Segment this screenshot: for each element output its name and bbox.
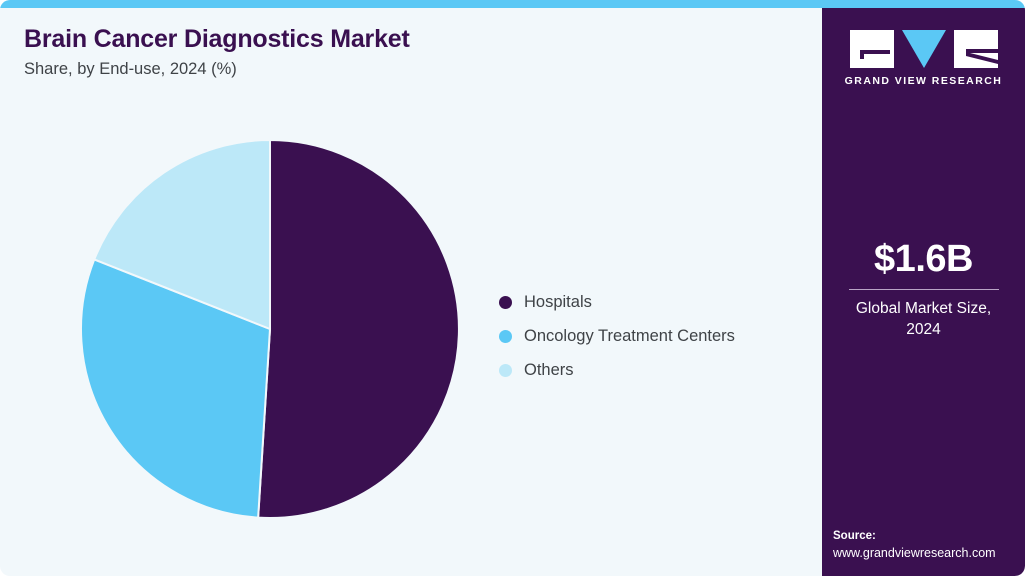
legend-item-label: Oncology Treatment Centers (524, 327, 735, 346)
pie-slice-group (81, 140, 459, 518)
source-block: Source: www.grandviewresearch.com (833, 528, 1025, 562)
brand-wordmark: GRAND VIEW RESEARCH (845, 75, 1003, 87)
chart-pane: Brain Cancer Diagnostics Market Share, b… (0, 8, 822, 576)
legend-item-label: Others (524, 361, 574, 380)
infographic-canvas: Brain Cancer Diagnostics Market Share, b… (0, 0, 1025, 576)
pie-chart-svg (80, 139, 460, 519)
top-accent-bar (0, 0, 1025, 8)
pie-slice[interactable] (258, 140, 459, 518)
market-size-value: $1.6B (822, 240, 1025, 280)
legend-swatch-icon (499, 296, 512, 309)
legend-item-hospitals[interactable]: Hospitals (499, 285, 735, 319)
stat-divider (849, 289, 999, 290)
page-title: Brain Cancer Diagnostics Market (24, 26, 784, 54)
side-panel: GRAND VIEW RESEARCH $1.6B Global Market … (822, 8, 1025, 576)
legend-item-label: Hospitals (524, 293, 592, 312)
brand-logo: GRAND VIEW RESEARCH (822, 30, 1025, 87)
pie-chart (80, 139, 460, 519)
source-label: Source: (833, 528, 1025, 545)
legend-swatch-icon (499, 364, 512, 377)
legend-item-others[interactable]: Others (499, 353, 735, 387)
market-size-caption: Global Market Size, 2024 (822, 299, 1025, 341)
legend-item-oncology-treatment-centers[interactable]: Oncology Treatment Centers (499, 319, 735, 353)
source-url[interactable]: www.grandviewresearch.com (833, 545, 1025, 562)
gvr-logo-icon (850, 30, 998, 68)
title-block: Brain Cancer Diagnostics Market Share, b… (24, 26, 784, 79)
page-subtitle: Share, by End-use, 2024 (%) (24, 60, 784, 80)
legend-swatch-icon (499, 330, 512, 343)
legend: Hospitals Oncology Treatment Centers Oth… (499, 285, 735, 387)
market-size-stat: $1.6B Global Market Size, 2024 (822, 240, 1025, 341)
